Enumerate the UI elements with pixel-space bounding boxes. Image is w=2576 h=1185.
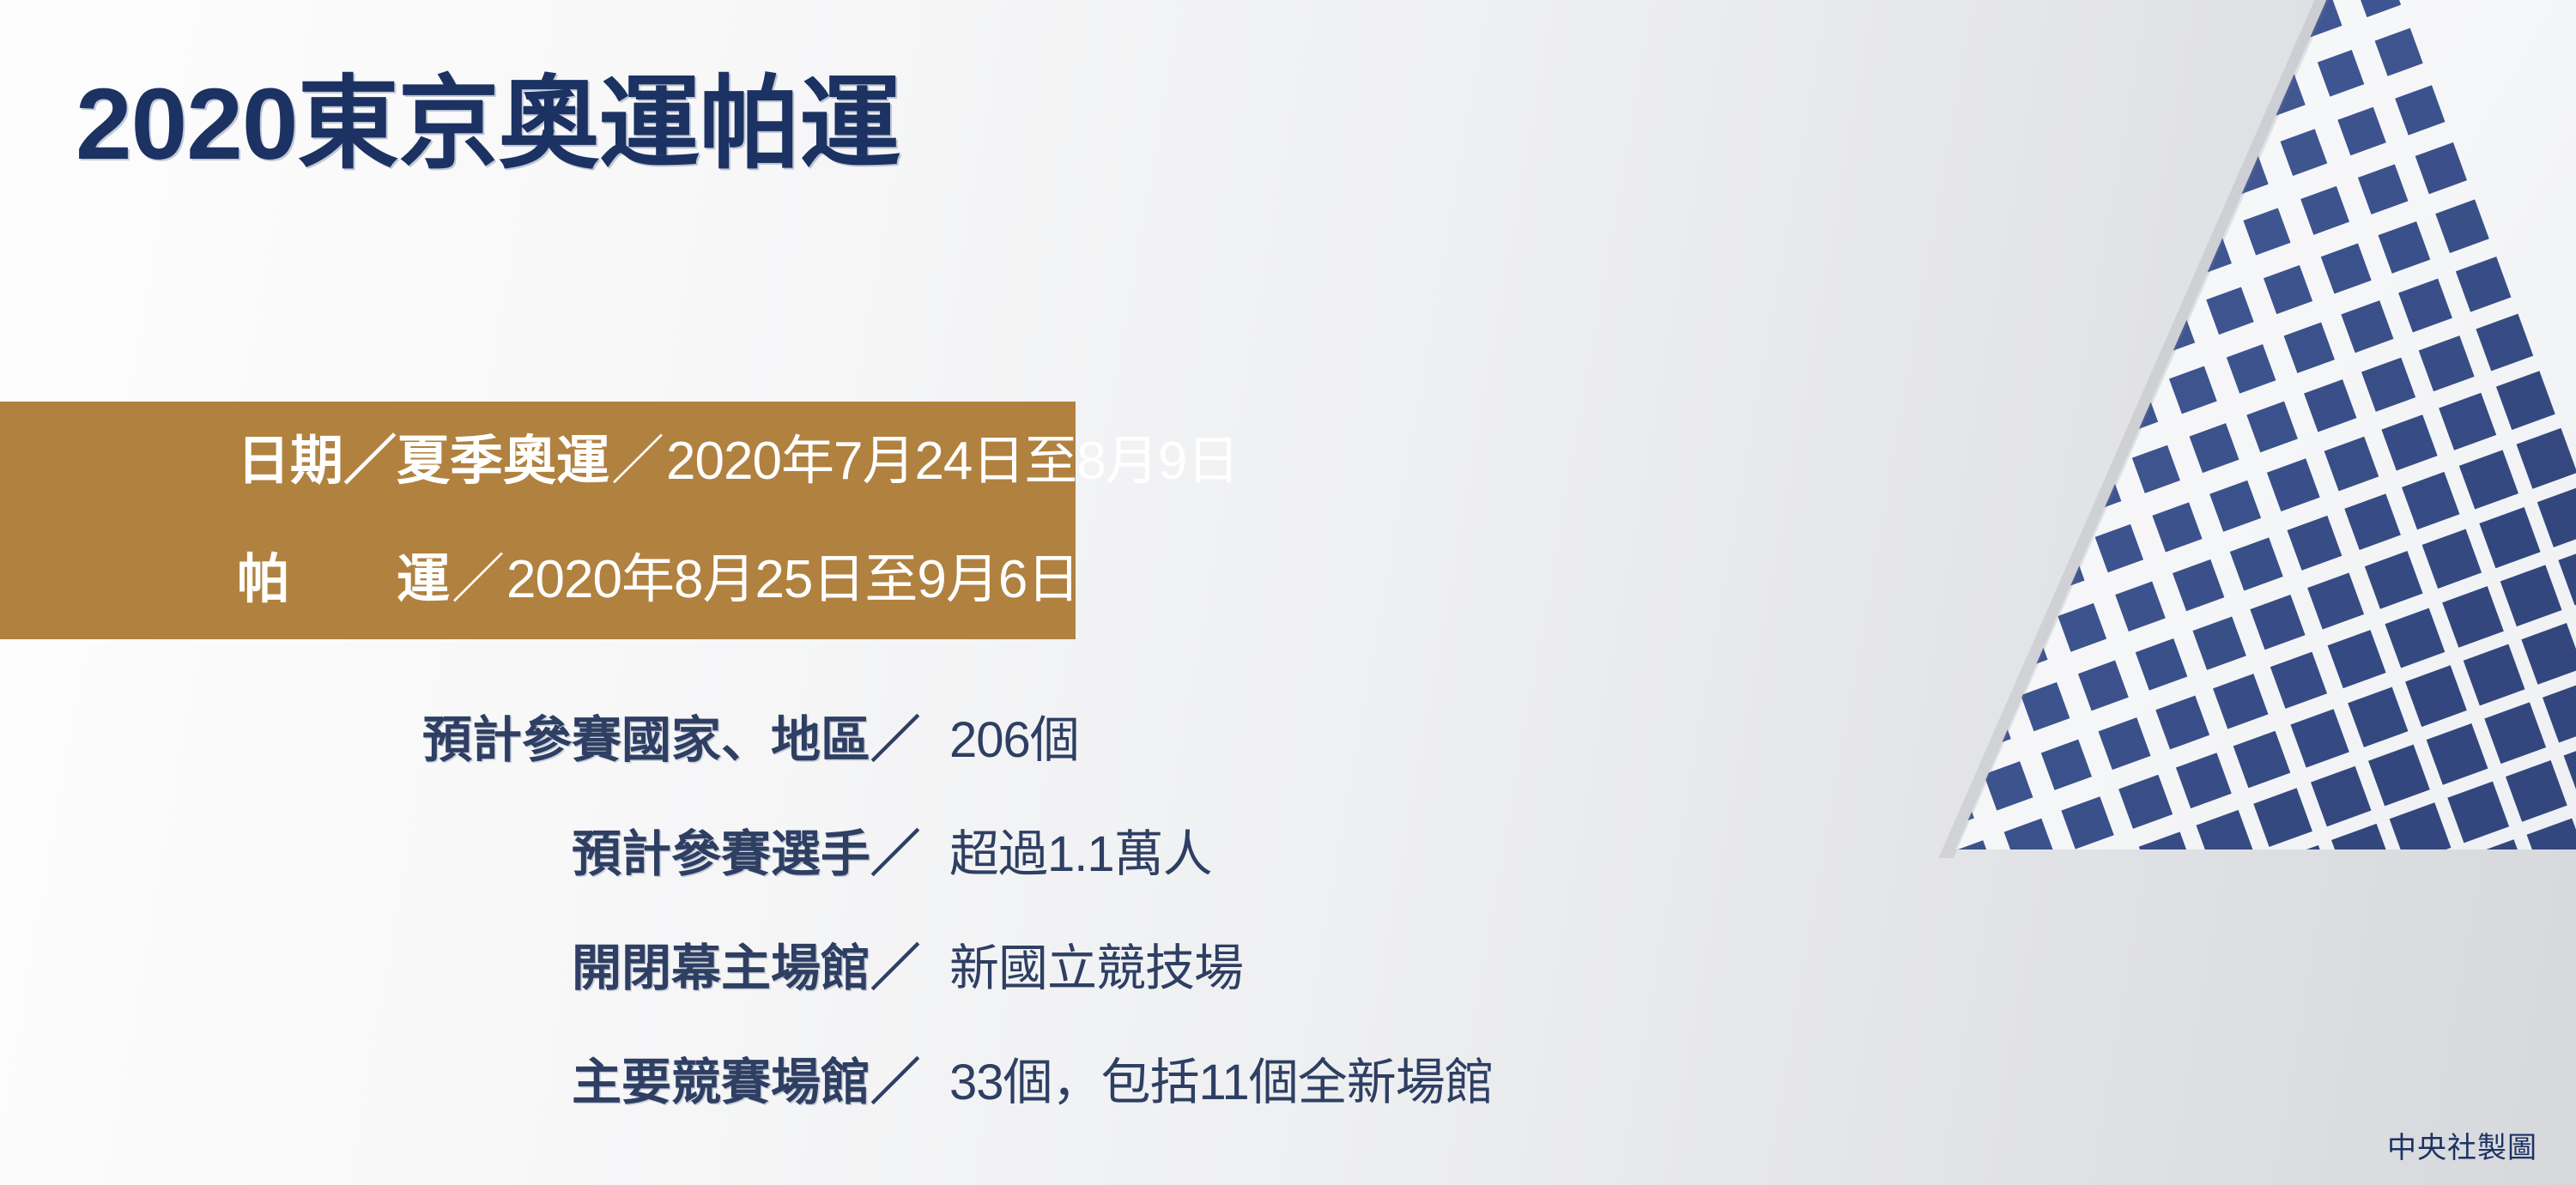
separator-icon: ／	[870, 813, 920, 886]
fact-label-athletes: 預計參賽選手	[0, 813, 870, 886]
summer-games-label: 夏季奧運	[397, 430, 609, 493]
date-label: 日期／	[237, 430, 397, 493]
fact-row-countries: 預計參賽國家、地區 ／ 206個	[0, 678, 2064, 792]
infographic-canvas: 2020東京奧運帕運 日期／ 夏季奧運 ／ 2020年7月24日至8月9日 帕 …	[0, 0, 2576, 1185]
separator-icon: ／	[870, 1042, 920, 1114]
page-title: 2020東京奧運帕運	[76, 67, 900, 184]
date-banner-line-paralympics: 帕 運 ／ 2020年8月25日至9月6日	[0, 521, 1076, 640]
fact-label-main-stadium: 開閉幕主場館	[0, 928, 870, 1000]
summer-games-dates: 2020年7月24日至8月9日	[666, 430, 1239, 493]
fact-row-athletes: 預計參賽選手 ／ 超過1.1萬人	[0, 792, 2064, 906]
separator-icon: ／	[870, 699, 920, 771]
fact-value-athletes: 超過1.1萬人	[920, 813, 1212, 886]
fact-value-main-stadium: 新國立競技場	[920, 928, 1243, 1000]
fact-row-main-stadium: 開閉幕主場館 ／ 新國立競技場	[0, 906, 2064, 1020]
summer-separator-icon: ／	[609, 430, 666, 493]
fact-list: 預計參賽國家、地區 ／ 206個 預計參賽選手 ／ 超過1.1萬人 開閉幕主場館…	[0, 678, 2064, 1134]
paralympics-separator-icon: ／	[450, 548, 506, 611]
paralympics-label: 帕 運	[237, 548, 450, 611]
paralympics-dates: 2020年8月25日至9月6日	[506, 548, 1079, 611]
date-banner-line-summer: 日期／ 夏季奧運 ／ 2020年7月24日至8月9日	[0, 402, 1076, 521]
fact-row-venues: 主要競賽場館 ／ 33個，包括11個全新場館	[0, 1020, 2064, 1134]
fact-label-venues: 主要競賽場館	[0, 1042, 870, 1114]
separator-icon: ／	[870, 928, 920, 1000]
fact-label-countries: 預計參賽國家、地區	[0, 699, 870, 771]
fact-value-venues: 33個，包括11個全新場館	[920, 1042, 1494, 1114]
credit-label: 中央社製圖	[2387, 1124, 2537, 1166]
fact-value-countries: 206個	[920, 699, 1079, 771]
date-banner: 日期／ 夏季奧運 ／ 2020年7月24日至8月9日 帕 運 ／ 2020年8月…	[0, 402, 1076, 639]
